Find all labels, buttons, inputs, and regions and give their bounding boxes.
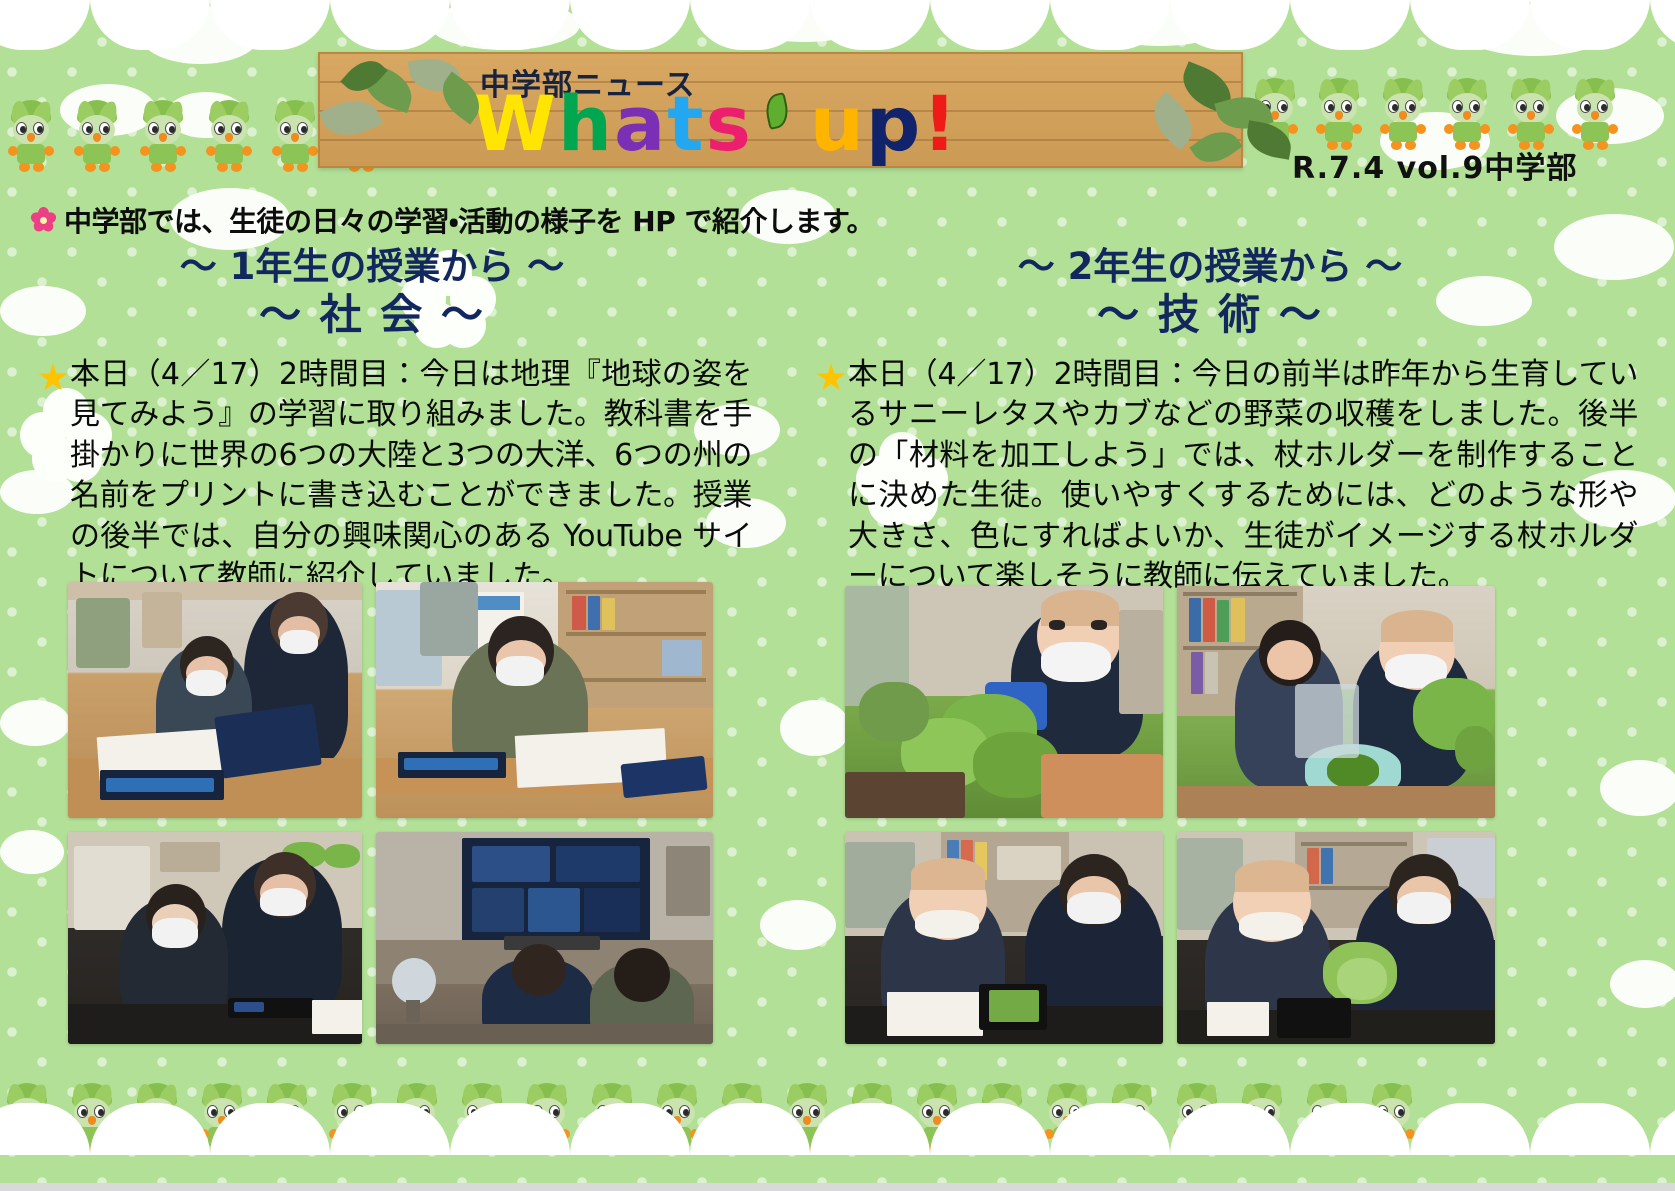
leaf-boy-mascot-icon	[1376, 78, 1430, 150]
photo-students-teacher-lettuce	[1177, 586, 1495, 818]
background-blob	[1556, 88, 1664, 144]
title-letter: u	[810, 86, 866, 162]
leaf-boy-mascot-icon	[1300, 1083, 1354, 1155]
title-letter: h	[558, 86, 614, 162]
mascot-row-bottom	[0, 1083, 1419, 1155]
background-blob	[760, 900, 836, 950]
star-icon	[38, 363, 68, 393]
column-body-block: 本日（4／17）2時間目：今日の前半は昨年から生育しているサニーレタスやカブなど…	[800, 355, 1660, 598]
background-blob	[1090, 0, 1230, 46]
newsletter-page: 中学部ニュース Whats up! R.7.4 vol.9中学部 中学部では、生…	[0, 0, 1675, 1191]
leaf-boy-mascot-icon	[195, 1083, 249, 1155]
photo-students-with-tablet	[845, 832, 1163, 1044]
leaf-boy-mascot-icon	[268, 100, 322, 172]
background-blob	[1600, 760, 1675, 816]
leaf-boy-mascot-icon	[390, 1083, 444, 1155]
leaf-boy-mascot-icon	[975, 1083, 1029, 1155]
leaf-boy-mascot-icon	[1365, 1083, 1419, 1155]
sakura-flower-icon	[30, 207, 56, 233]
background-blob	[166, 92, 246, 138]
column-body-block: 本日（4／17）2時間目：今日は地理『地球の姿を見てみよう』の学習に取り組みまし…	[22, 355, 782, 598]
column-heading-grade: ～ 2年生の授業から ～	[800, 248, 1660, 287]
leaf-boy-mascot-icon	[1248, 78, 1302, 150]
photo-student-teacher-newspaper	[68, 582, 362, 818]
photo-student-harvesting-lettuce	[845, 586, 1163, 818]
background-blob	[430, 0, 580, 50]
bottom-cloud-border	[0, 1109, 1675, 1155]
leaf-boy-mascot-icon	[65, 1083, 119, 1155]
column-body-text: 本日（4／17）2時間目：今日は地理『地球の姿を見てみよう』の学習に取り組みまし…	[70, 355, 752, 598]
leaf-boy-mascot-icon	[325, 1083, 379, 1155]
leaf-boy-mascot-icon	[1504, 78, 1558, 150]
photo-classroom-monitor	[376, 832, 713, 1044]
column-body-text: 本日（4／17）2時間目：今日の前半は昨年から生育しているサニーレタスやカブなど…	[848, 355, 1638, 598]
title-letter: !	[922, 86, 959, 162]
leaf-boy-mascot-icon	[585, 1083, 639, 1155]
leaf-boy-mascot-icon	[520, 1083, 574, 1155]
leaf-boy-mascot-icon	[455, 1083, 509, 1155]
title-letter: W	[472, 86, 558, 162]
leaf-boy-mascot-icon	[1312, 78, 1366, 150]
leaf-boy-mascot-icon	[260, 1083, 314, 1155]
background-blob	[1460, 4, 1610, 56]
column-grade1-social-studies: ～ 1年生の授業から ～ ～ 社 会 ～ 本日（4／17）2時間目：今日は地理『…	[22, 248, 782, 598]
column-heading-grade: ～ 1年生の授業から ～	[22, 248, 782, 287]
background-blob	[740, 0, 870, 42]
leaf-boy-mascot-icon	[910, 1083, 964, 1155]
photo-students-with-cabbage	[1177, 832, 1495, 1044]
leaf-boy-mascot-icon	[70, 100, 124, 172]
intro-text: 中学部では、生徒の日々の学習・活動の様子を HP で紹介します。	[64, 200, 874, 240]
leaf-boy-mascot-icon	[1568, 78, 1622, 150]
background-blob	[0, 700, 70, 746]
background-blob	[0, 830, 64, 874]
leaf-boy-mascot-icon	[1170, 1083, 1224, 1155]
column-grade2-technology: ～ 2年生の授業から ～ ～ 技 術 ～ 本日（4／17）2時間目：今日の前半は…	[800, 248, 1660, 598]
leaf-boy-mascot-icon	[1105, 1083, 1159, 1155]
photo-grid-right	[845, 586, 1495, 1044]
leaf-boy-mascot-icon	[136, 100, 190, 172]
leaf-boy-mascot-icon	[4, 100, 58, 172]
leaf-boy-mascot-icon	[845, 1083, 899, 1155]
photo-boy-writing-worksheet	[376, 582, 713, 818]
leaf-boy-mascot-icon	[780, 1083, 834, 1155]
leaf-boy-mascot-icon	[0, 1083, 54, 1155]
column-heading-subject: ～ 社 会 ～	[22, 293, 782, 337]
top-cloud-border	[0, 0, 1675, 52]
background-blob	[780, 700, 850, 756]
column-heading-subject: ～ 技 術 ～	[800, 293, 1660, 337]
leaf-boy-mascot-icon	[1235, 1083, 1289, 1155]
leaf-boy-mascot-icon	[1040, 1083, 1094, 1155]
bottom-edge-strip	[0, 1183, 1675, 1191]
intro-line: 中学部では、生徒の日々の学習・活動の様子を HP で紹介します。	[30, 200, 874, 240]
title-letter: t	[667, 86, 705, 162]
banner-title: Whats up!	[472, 86, 959, 162]
background-blob	[60, 84, 156, 136]
photo-grid-left	[68, 582, 713, 1044]
leaf-boy-mascot-icon	[1440, 78, 1494, 150]
leaf-boy-mascot-icon	[130, 1083, 184, 1155]
mascot-row-right-top	[1248, 78, 1622, 150]
title-letter: s	[706, 86, 753, 162]
leaf-boy-mascot-icon	[715, 1083, 769, 1155]
star-icon	[816, 363, 846, 393]
leaf-boy-mascot-icon	[650, 1083, 704, 1155]
background-blob	[1610, 960, 1675, 1008]
title-letter: p	[866, 86, 922, 162]
issue-number: R.7.4 vol.9中学部	[1292, 143, 1577, 187]
title-letter: a	[614, 86, 667, 162]
leaf-boy-mascot-icon	[202, 100, 256, 172]
background-blob	[140, 6, 260, 64]
photo-boy-teacher-desk	[68, 832, 362, 1044]
